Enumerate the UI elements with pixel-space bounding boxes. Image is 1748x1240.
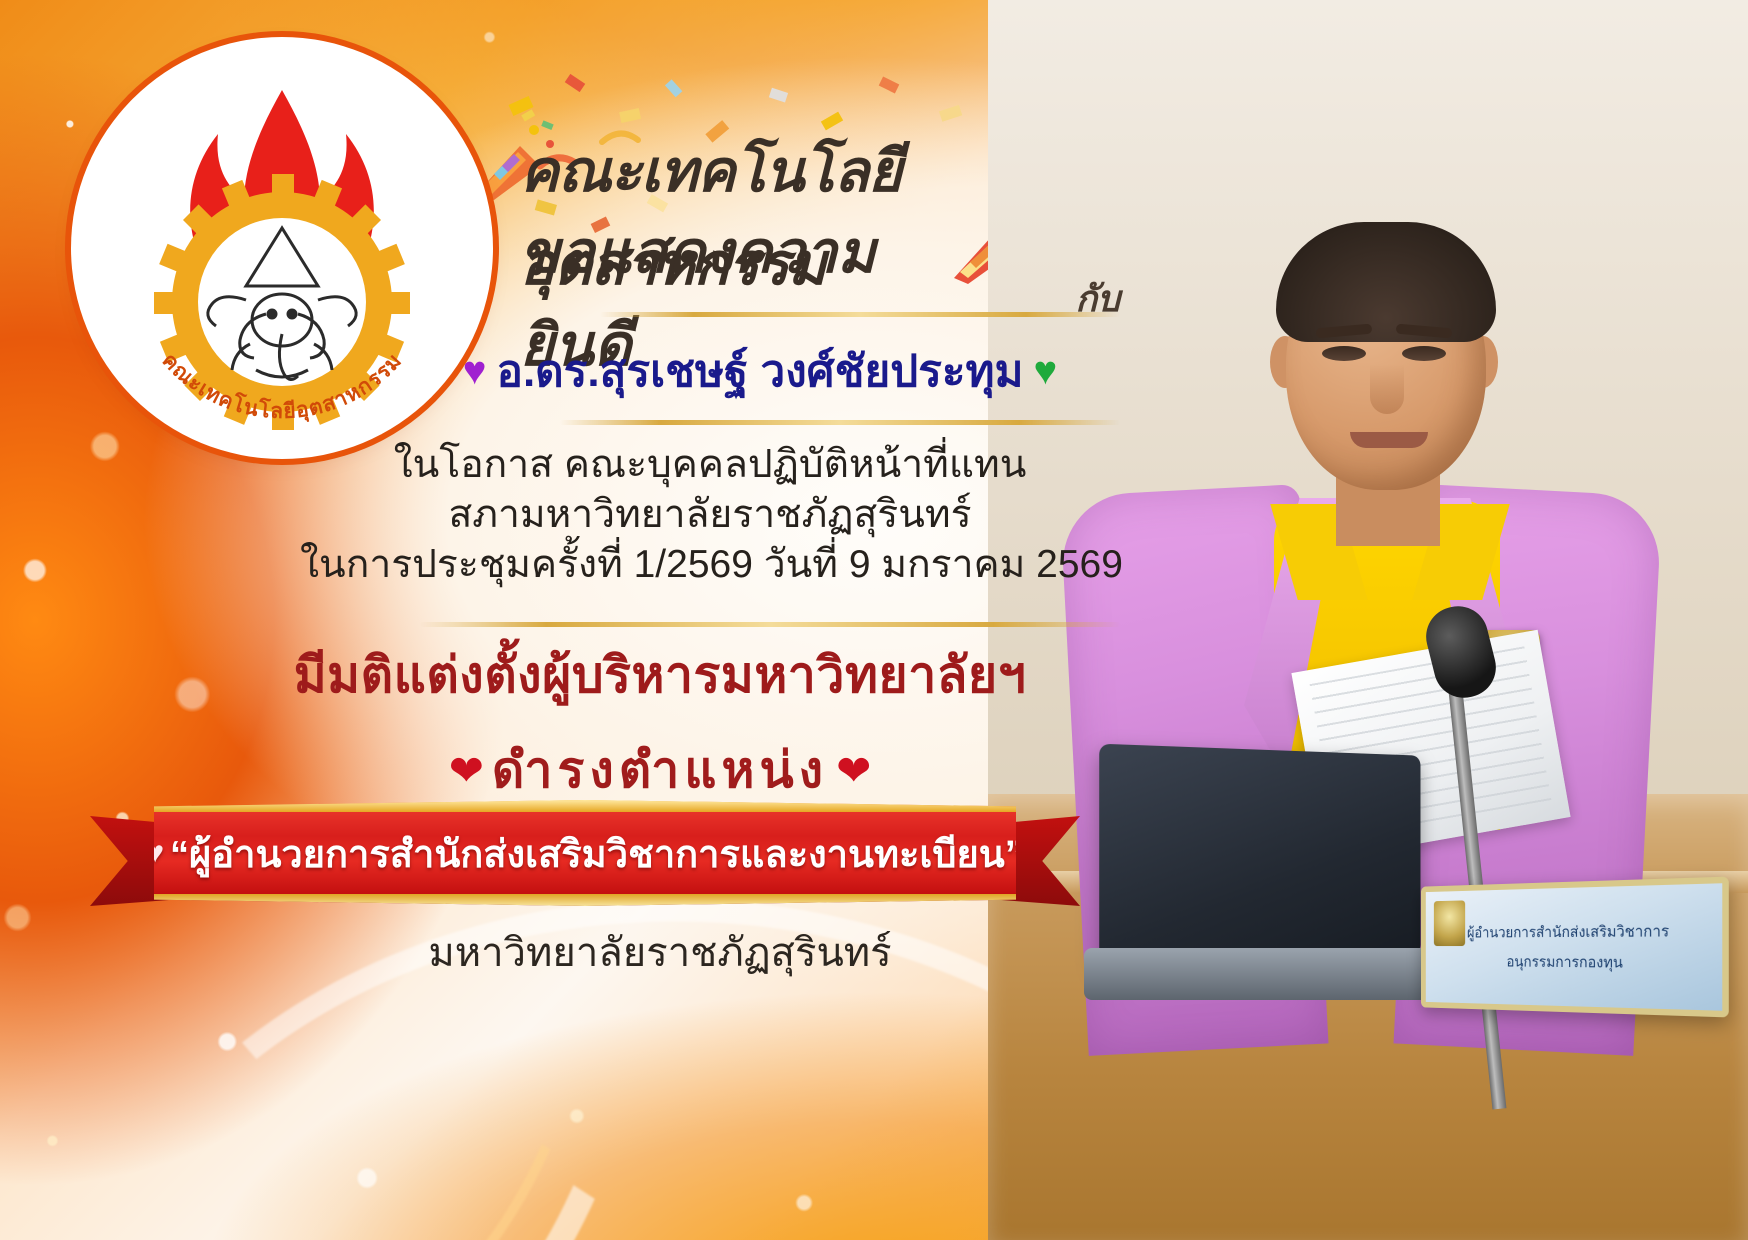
laptop-base — [1084, 948, 1434, 1000]
desk-nameplate: ผู้อำนวยการสำนักส่งเสริมวิชาการ อนุกรรมก… — [1421, 877, 1729, 1018]
resolution-line-1: มีมติแต่งตั้งผู้บริหารมหาวิทยาลัยฯ — [200, 636, 1120, 715]
laptop-screen — [1099, 744, 1420, 967]
divider-lower — [420, 622, 1120, 627]
eye-left — [1322, 346, 1366, 361]
position-ribbon-banner: ♥ “ผู้อำนวยการสำนักส่งเสริมวิชาการและงาน… — [90, 800, 1080, 920]
heart-purple-icon: ♥ — [463, 351, 487, 391]
hair — [1276, 222, 1496, 342]
position-title: “ผู้อำนวยการสำนักส่งเสริมวิชาการและงานทะ… — [170, 823, 1024, 884]
ribbon-text-row: ♥ “ผู้อำนวยการสำนักส่งเสริมวิชาการและงาน… — [146, 823, 1024, 884]
university-name: มหาวิทยาลัยราชภัฏสุรินทร์ — [200, 920, 1120, 984]
occasion-line-3: ในการประชุมครั้งที่ 1/2569 วันที่ 9 มกรา… — [300, 540, 1120, 590]
eye-right — [1402, 346, 1446, 361]
resolution-line-2-row: ❤ ดำรงตำแหน่ง ❤ — [200, 731, 1120, 810]
occasion-paragraph: ในโอกาส คณะบุคคลปฏิบัติหน้าที่แทน สภามหา… — [300, 440, 1120, 590]
honoree-name: อ.ดร.สุรเชษฐ์ วงศ์ชัยประทุม — [497, 336, 1024, 406]
ribbon-body: ♥ “ผู้อำนวยการสำนักส่งเสริมวิชาการและงาน… — [154, 800, 1016, 906]
resolution-block: มีมติแต่งตั้งผู้บริหารมหาวิทยาลัยฯ ❤ ดำร… — [200, 636, 1120, 810]
congratulations-poster: คณะเทคโนโลยีอุตสาหกรรม — [0, 0, 1748, 1240]
nameplate-line-2: อนุกรรมการกองทุน — [1506, 950, 1622, 975]
nameplate-seal-icon — [1434, 900, 1465, 946]
resolution-line-2: ดำรงตำแหน่ง — [492, 731, 828, 810]
poster-text-content: คณะเทคโนโลยีอุตสาหกรรม ขอแสดงความยินดี ก… — [0, 0, 1120, 1240]
heart-red-left-icon: ❤ — [449, 746, 484, 795]
divider-top — [600, 312, 1120, 317]
with-word: กับ — [1075, 270, 1120, 327]
divider-middle — [560, 420, 1120, 425]
heart-green-icon: ♥ — [1033, 351, 1057, 391]
nameplate-line-1: ผู้อำนวยการสำนักส่งเสริมวิชาการ — [1467, 919, 1669, 945]
nose — [1370, 364, 1404, 414]
heart-red-right-icon: ❤ — [836, 746, 871, 795]
occasion-line-2: สภามหาวิทยาลัยราชภัฏสุรินทร์ — [300, 490, 1120, 540]
occasion-line-1: ในโอกาส คณะบุคคลปฏิบัติหน้าที่แทน — [300, 440, 1120, 490]
honoree-name-row: ♥ อ.ดร.สุรเชษฐ์ วงศ์ชัยประทุม ♥ — [400, 336, 1120, 406]
mouth — [1350, 432, 1428, 448]
